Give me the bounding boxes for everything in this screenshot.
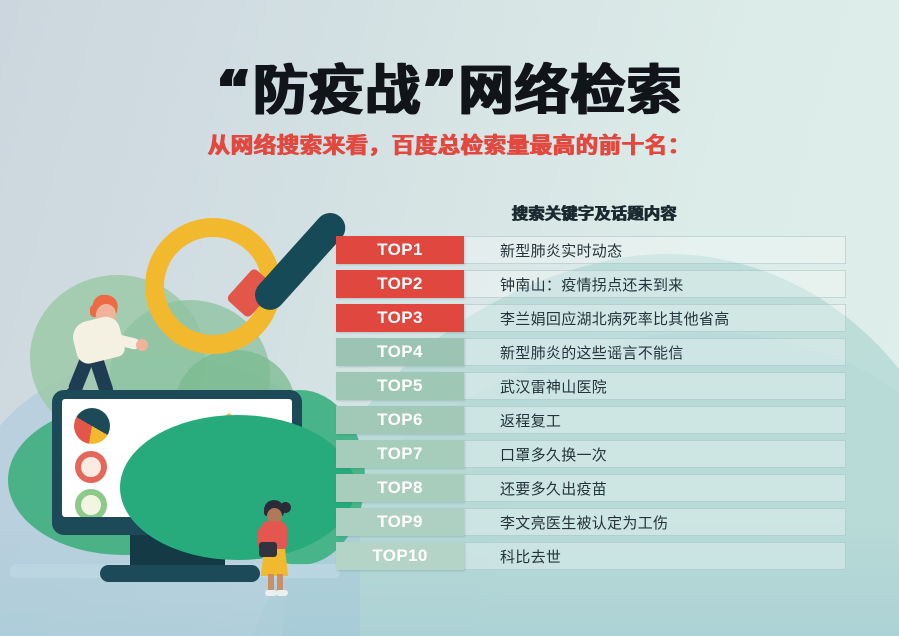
table-row[interactable]: TOP3李兰娟回应湖北病死率比其他省高 — [336, 304, 846, 332]
standing-woman-figure — [255, 500, 295, 596]
pie-chart-icon — [74, 408, 110, 444]
ranking-column-header: 搜索关键字及话题内容 — [512, 200, 846, 236]
table-row[interactable]: TOP8还要多久出疫苗 — [336, 474, 846, 502]
table-row[interactable]: TOP6返程复工 — [336, 406, 846, 434]
page-subtitle: 从网络搜索来看，百度总检索量最高的前十名： — [0, 128, 899, 160]
monitor-base — [100, 565, 260, 582]
rank-badge: TOP7 — [336, 440, 464, 468]
rank-badge: TOP4 — [336, 338, 464, 366]
ranking-table: 搜索关键字及话题内容 TOP1新型肺炎实时动态TOP2钟南山：疫情拐点还未到来T… — [336, 200, 846, 576]
table-row[interactable]: TOP5武汉雷神山医院 — [336, 372, 846, 400]
donut-chart-green-icon — [75, 489, 107, 517]
infographic-canvas: 1 “防疫战”网络检索 从网络搜索来看，百度总检索量最高的前十名： 搜索关键字及… — [0, 0, 899, 636]
bush-green-2 — [120, 415, 355, 560]
table-row[interactable]: TOP10科比去世 — [336, 542, 846, 570]
rank-content-text: 钟南山：疫情拐点还未到来 — [464, 270, 846, 298]
rank-content-text: 新型肺炎的这些谣言不能信 — [464, 338, 846, 366]
page-title: “防疫战”网络检索 — [0, 46, 899, 125]
rank-badge: TOP2 — [336, 270, 464, 298]
illustration: 1 — [0, 200, 340, 636]
donut-chart-red-icon — [75, 451, 107, 483]
rank-badge: TOP10 — [336, 542, 464, 570]
rank-badge: TOP8 — [336, 474, 464, 502]
rank-content-text: 武汉雷神山医院 — [464, 372, 846, 400]
table-row[interactable]: TOP4新型肺炎的这些谣言不能信 — [336, 338, 846, 366]
rank-content-text: 口罩多久换一次 — [464, 440, 846, 468]
rank-badge: TOP1 — [336, 236, 464, 264]
table-row[interactable]: TOP1新型肺炎实时动态 — [336, 236, 846, 264]
woman-shoe-right — [276, 590, 288, 596]
woman-held-object — [259, 542, 277, 557]
rank-content-text: 科比去世 — [464, 542, 846, 570]
walking-man-figure — [60, 295, 146, 405]
rank-content-text: 返程复工 — [464, 406, 846, 434]
table-row[interactable]: TOP2钟南山：疫情拐点还未到来 — [336, 270, 846, 298]
rank-content-text: 李文亮医生被认定为工伤 — [464, 508, 846, 536]
rank-content-text: 新型肺炎实时动态 — [464, 236, 846, 264]
rank-content-text: 李兰娟回应湖北病死率比其他省高 — [464, 304, 846, 332]
rank-badge: TOP6 — [336, 406, 464, 434]
rank-badge: TOP9 — [336, 508, 464, 536]
table-row[interactable]: TOP9李文亮医生被认定为工伤 — [336, 508, 846, 536]
rank-badge: TOP3 — [336, 304, 464, 332]
woman-hair-bun — [280, 502, 291, 513]
rank-badge: TOP5 — [336, 372, 464, 400]
rank-content-text: 还要多久出疫苗 — [464, 474, 846, 502]
man-hand — [136, 339, 148, 351]
table-row[interactable]: TOP7口罩多久换一次 — [336, 440, 846, 468]
ranking-rows: TOP1新型肺炎实时动态TOP2钟南山：疫情拐点还未到来TOP3李兰娟回应湖北病… — [336, 236, 846, 570]
